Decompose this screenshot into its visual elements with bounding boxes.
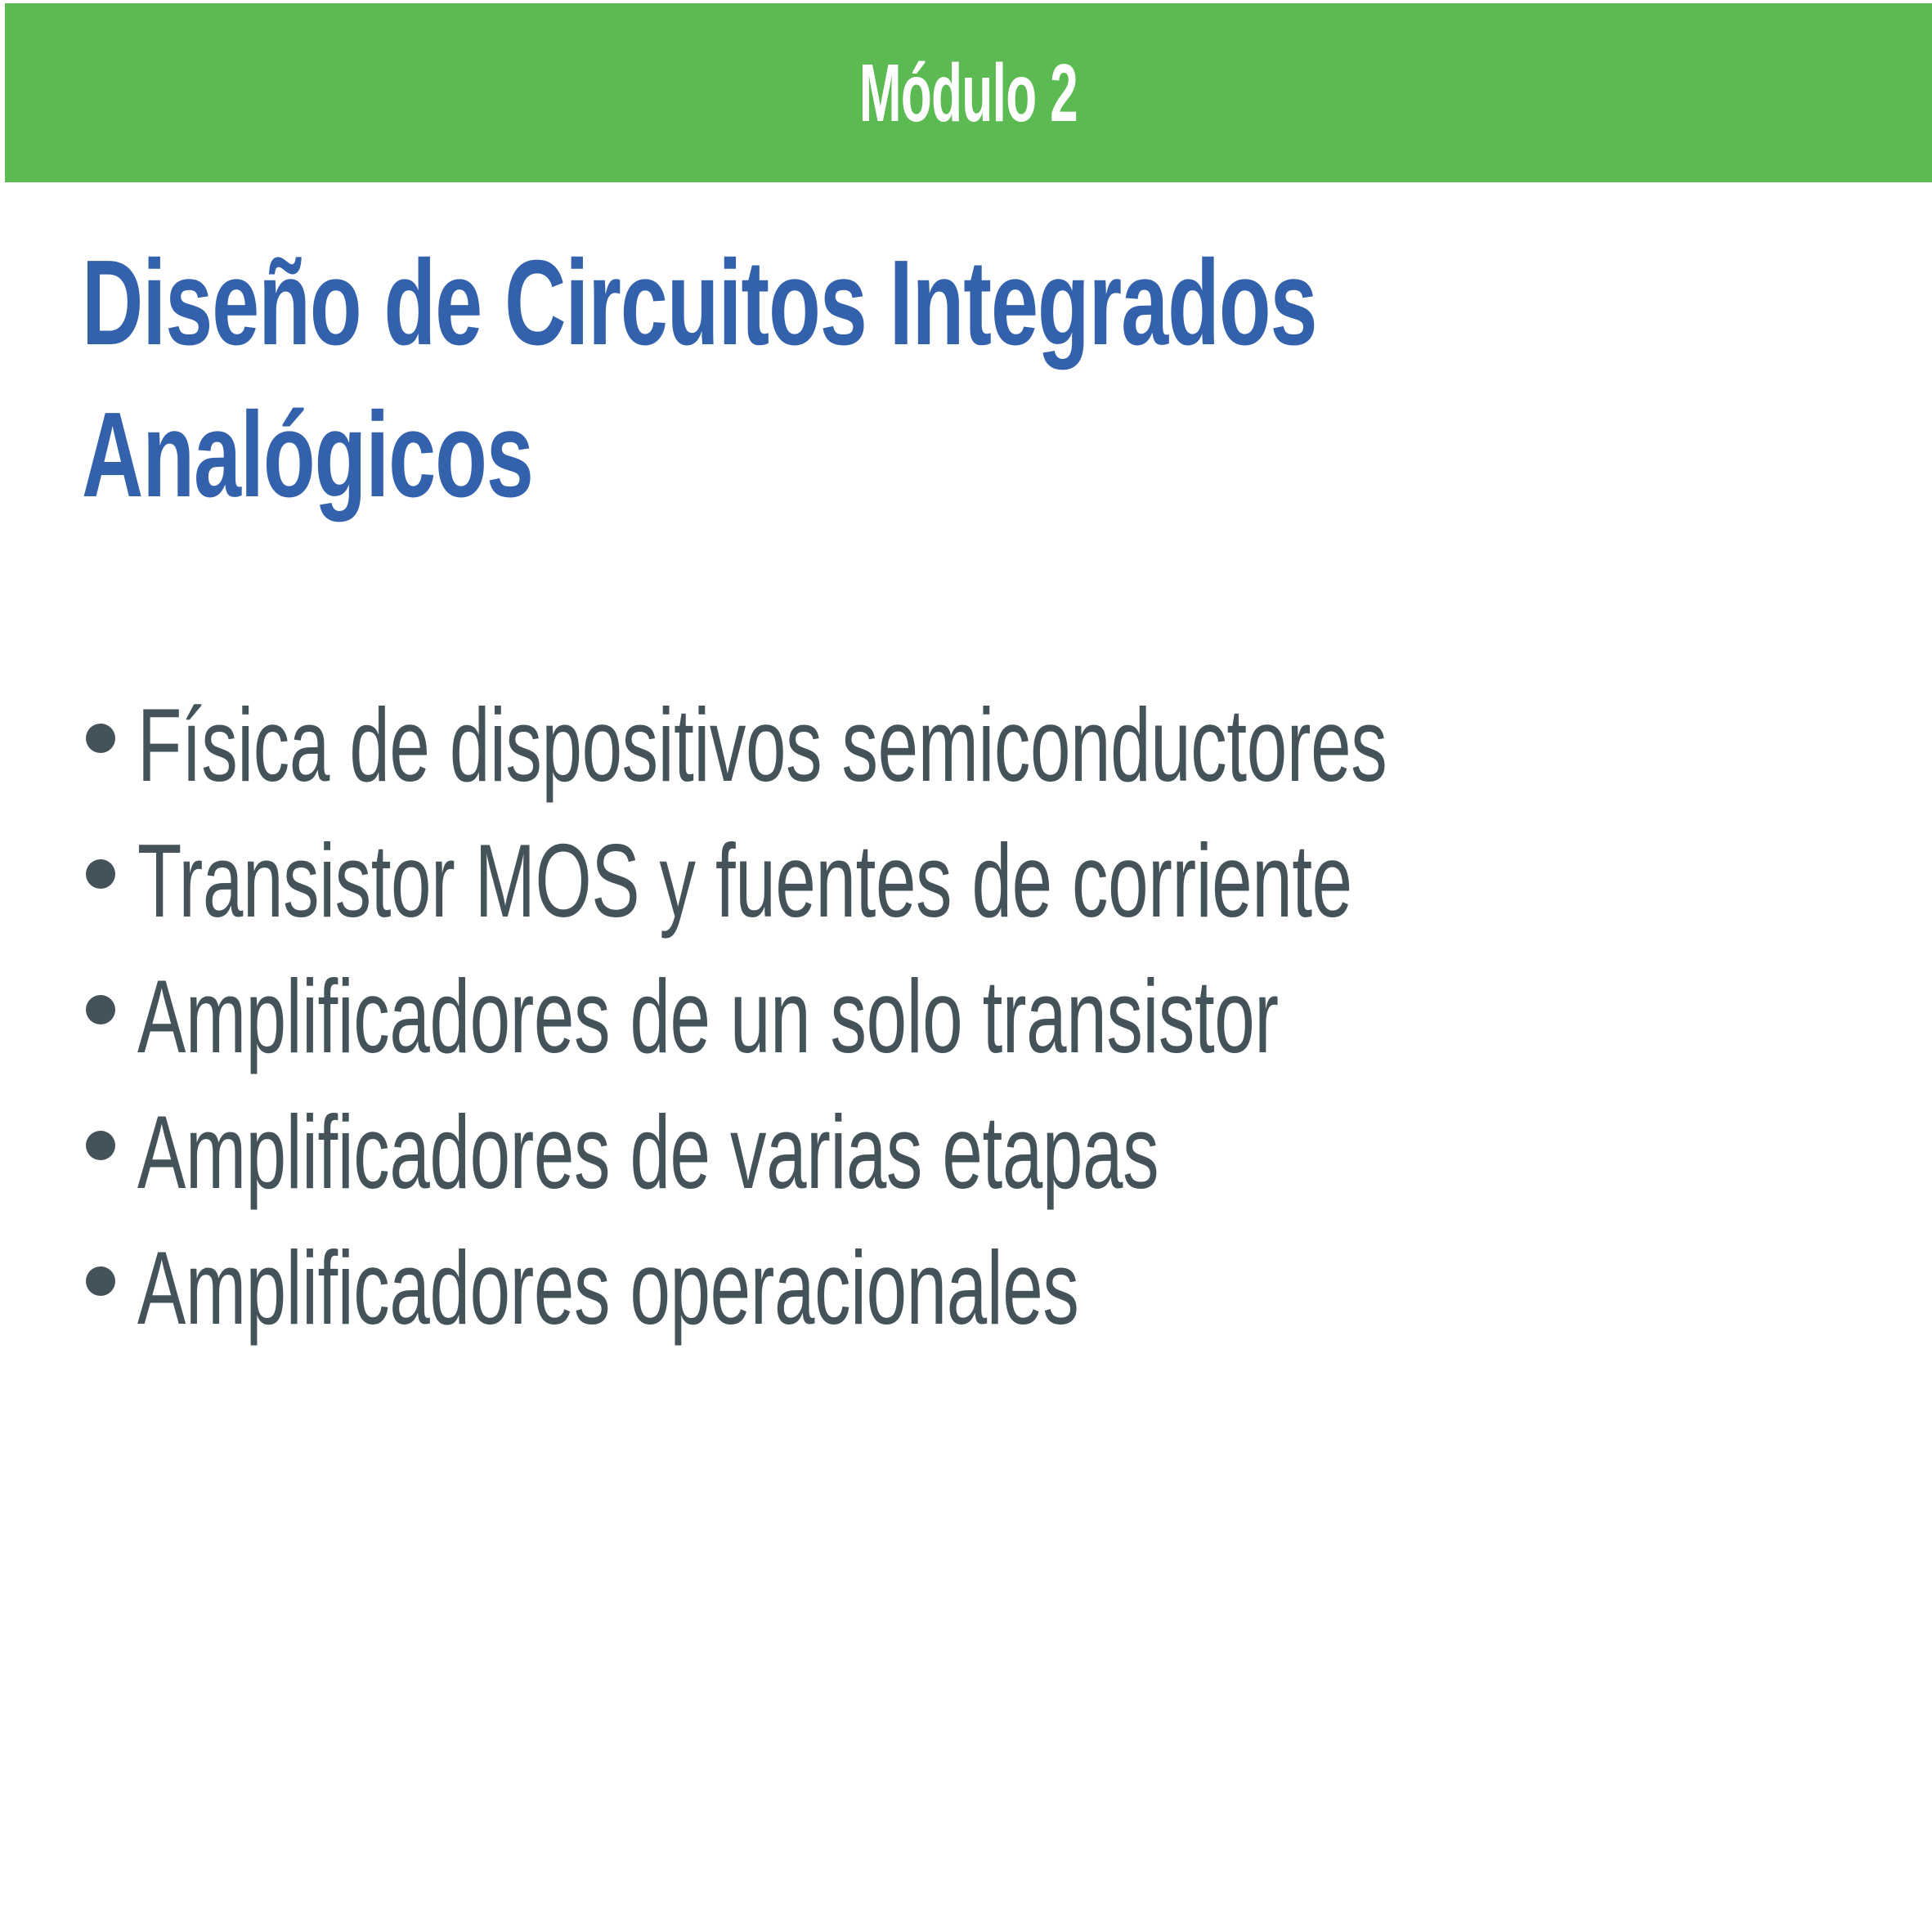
list-item: Amplificadores operacionales [82,1220,1799,1356]
list-item: Física de dispositivos semiconductores [82,677,1799,813]
bullet-dot-icon [86,995,115,1024]
list-item-label: Física de dispositivos semiconductores [137,677,1387,814]
bullet-dot-icon [86,859,115,889]
list-item: Transistor MOS y fuentes de corriente [82,813,1799,948]
slide-content: Diseño de Circuitos Integrados Analógico… [0,182,1932,1932]
list-item: Amplificadores de un solo transistor [82,948,1799,1084]
list-item-label: Transistor MOS y fuentes de corriente [137,813,1352,950]
module-header-label: Módulo 2 [859,52,1078,134]
bullet-dot-icon [86,1131,115,1160]
page-title-line-1: Diseño de Circuitos Integrados [82,227,1235,379]
page-title: Diseño de Circuitos Integrados Analógico… [82,227,1717,532]
list-item-label: Amplificadores operacionales [137,1220,1078,1357]
page-title-line-2: Analógicos [82,379,1235,531]
topic-list: Física de dispositivos semiconductores T… [82,677,1799,1356]
bullet-dot-icon [86,1266,115,1296]
bullet-dot-icon [86,724,115,753]
module-header-band: Módulo 2 [5,3,1932,182]
list-item-label: Amplificadores de varias etapas [137,1084,1159,1222]
slide-root: Módulo 2 Diseño de Circuitos Integrados … [0,0,1932,1932]
list-item-label: Amplificadores de un solo transistor [137,948,1279,1086]
list-item: Amplificadores de varias etapas [82,1084,1799,1220]
